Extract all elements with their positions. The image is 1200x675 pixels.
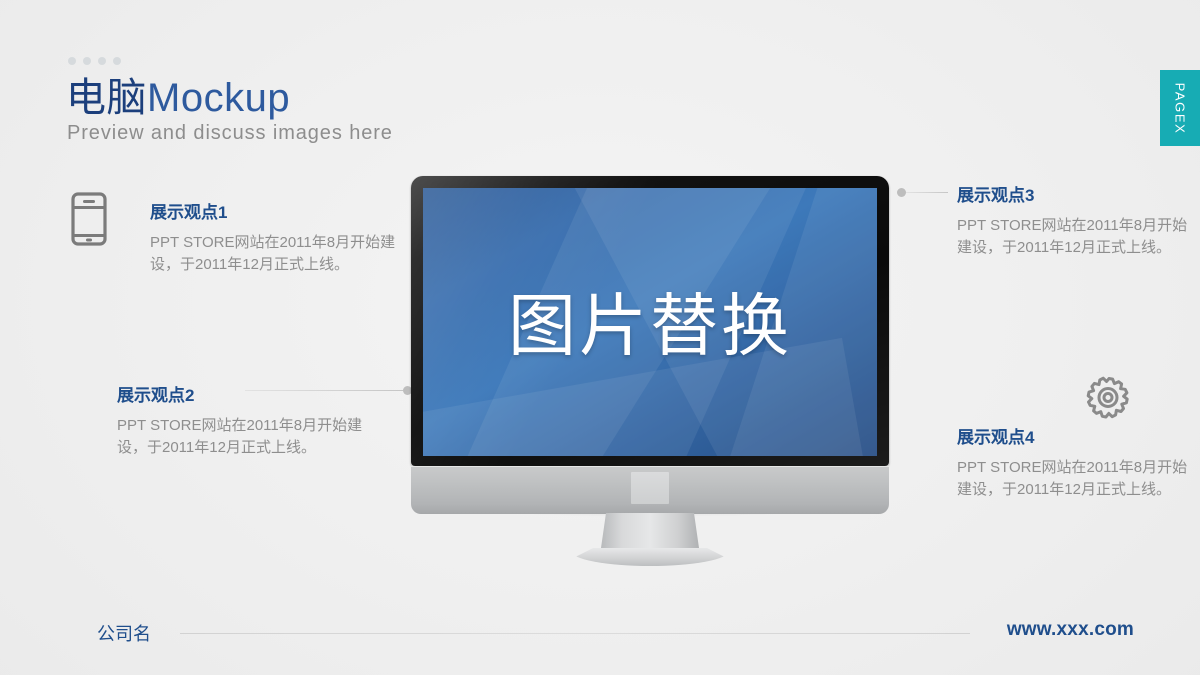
connector-line-point-3 (906, 192, 948, 193)
callout-point-2: 展示观点2 PPT STORE网站在2011年8月开始建设，于2011年12月正… (117, 381, 367, 459)
gear-icon (1085, 375, 1133, 428)
screen-placeholder-text: 图片替换 (423, 271, 877, 370)
gear-icon-svg (1085, 375, 1133, 423)
monitor-logo (631, 472, 669, 504)
callout-point-1-body: PPT STORE网站在2011年8月开始建设，于2011年12月正式上线。 (150, 232, 400, 276)
mobile-phone-icon (71, 192, 107, 251)
page-tag-label: PAGEX (1173, 82, 1188, 134)
callout-point-3-body: PPT STORE网站在2011年8月开始建设，于2011年12月正式上线。 (957, 215, 1192, 259)
dot-4 (113, 57, 121, 65)
connector-dot-point-3 (897, 188, 906, 197)
dot-2 (83, 57, 91, 65)
callout-point-1-heading: 展示观点1 (150, 198, 400, 223)
callout-point-4-body: PPT STORE网站在2011年8月开始建设，于2011年12月正式上线。 (957, 457, 1192, 501)
mobile-phone-icon-svg (71, 192, 107, 246)
callout-point-2-heading: 展示观点2 (117, 381, 367, 406)
page-title: 电脑Mockup (66, 76, 290, 120)
monitor-bezel: 图片替换 (411, 176, 889, 466)
monitor-chin (411, 466, 889, 514)
monitor-stand-base (571, 548, 729, 566)
slide-root: 电脑Mockup Preview and discuss images here… (0, 0, 1200, 675)
footer-divider (180, 633, 970, 634)
callout-point-2-body: PPT STORE网站在2011年8月开始建设，于2011年12月正式上线。 (117, 415, 367, 459)
page-title-cn: 电脑 (66, 76, 147, 120)
footer-website-url[interactable]: www.xxx.com (1007, 619, 1134, 641)
footer-company-name: 公司名 (97, 620, 151, 646)
computer-monitor-mockup: 图片替换 (411, 176, 889, 501)
callout-point-3-heading: 展示观点3 (957, 181, 1192, 206)
page-title-latin: Mockup (147, 76, 290, 120)
decorative-dots (68, 57, 121, 65)
dot-3 (98, 57, 106, 65)
page-tag: PAGEX (1160, 70, 1200, 146)
dot-1 (68, 57, 76, 65)
callout-point-1: 展示观点1 PPT STORE网站在2011年8月开始建设，于2011年12月正… (150, 198, 400, 276)
page-subtitle: Preview and discuss images here (67, 122, 393, 145)
callout-point-3: 展示观点3 PPT STORE网站在2011年8月开始建设，于2011年12月正… (957, 181, 1192, 259)
callout-point-4: 展示观点4 PPT STORE网站在2011年8月开始建设，于2011年12月正… (957, 423, 1192, 501)
callout-point-4-heading: 展示观点4 (957, 423, 1192, 448)
monitor-screen[interactable]: 图片替换 (423, 188, 877, 456)
